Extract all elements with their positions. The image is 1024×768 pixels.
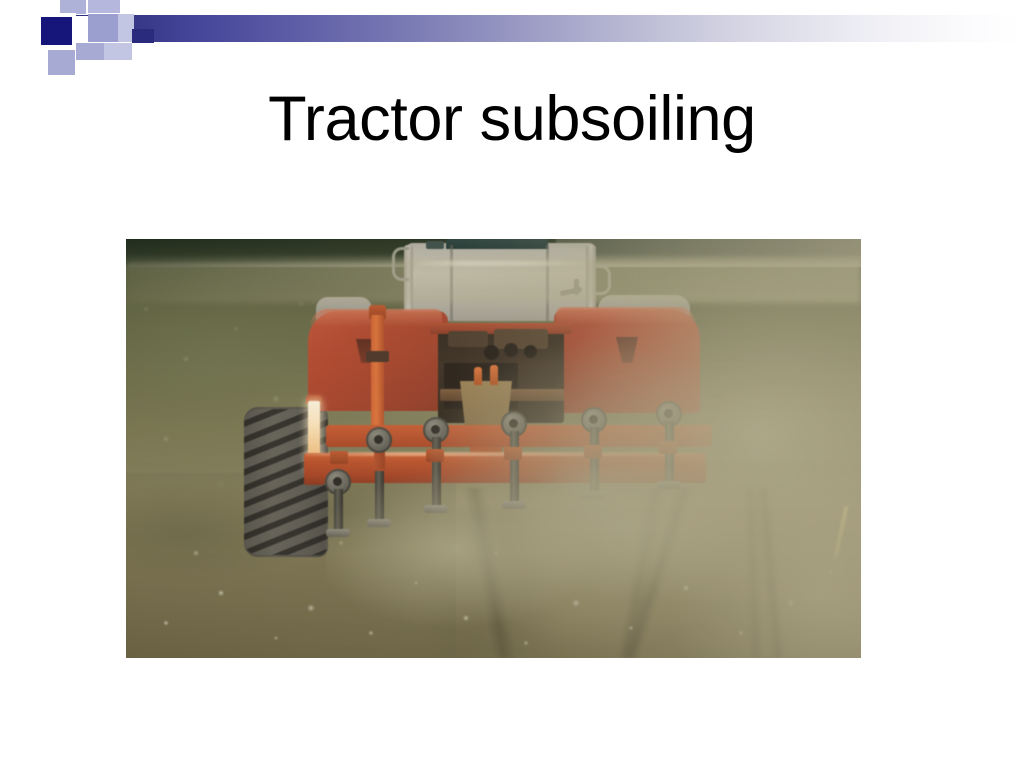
square-navy-large bbox=[41, 17, 72, 45]
square-periwinkle-3 bbox=[88, 0, 120, 13]
slide: Tractor subsoiling bbox=[0, 0, 1024, 768]
square-white-notch bbox=[76, 60, 132, 74]
header-gradient-bar bbox=[60, 15, 1024, 42]
square-periwinkle-4 bbox=[88, 14, 118, 42]
square-navy-small bbox=[132, 29, 154, 43]
photo-soft-focus bbox=[126, 239, 861, 658]
tractor-subsoiling-photograph bbox=[126, 239, 861, 658]
header-left-white-veil bbox=[0, 0, 32, 72]
decorative-header-band bbox=[0, 0, 1024, 72]
page-title: Tractor subsoiling bbox=[0, 88, 1024, 151]
photo-scene bbox=[126, 239, 861, 658]
square-periwinkle-7 bbox=[48, 50, 75, 75]
square-periwinkle-1 bbox=[60, 0, 86, 14]
